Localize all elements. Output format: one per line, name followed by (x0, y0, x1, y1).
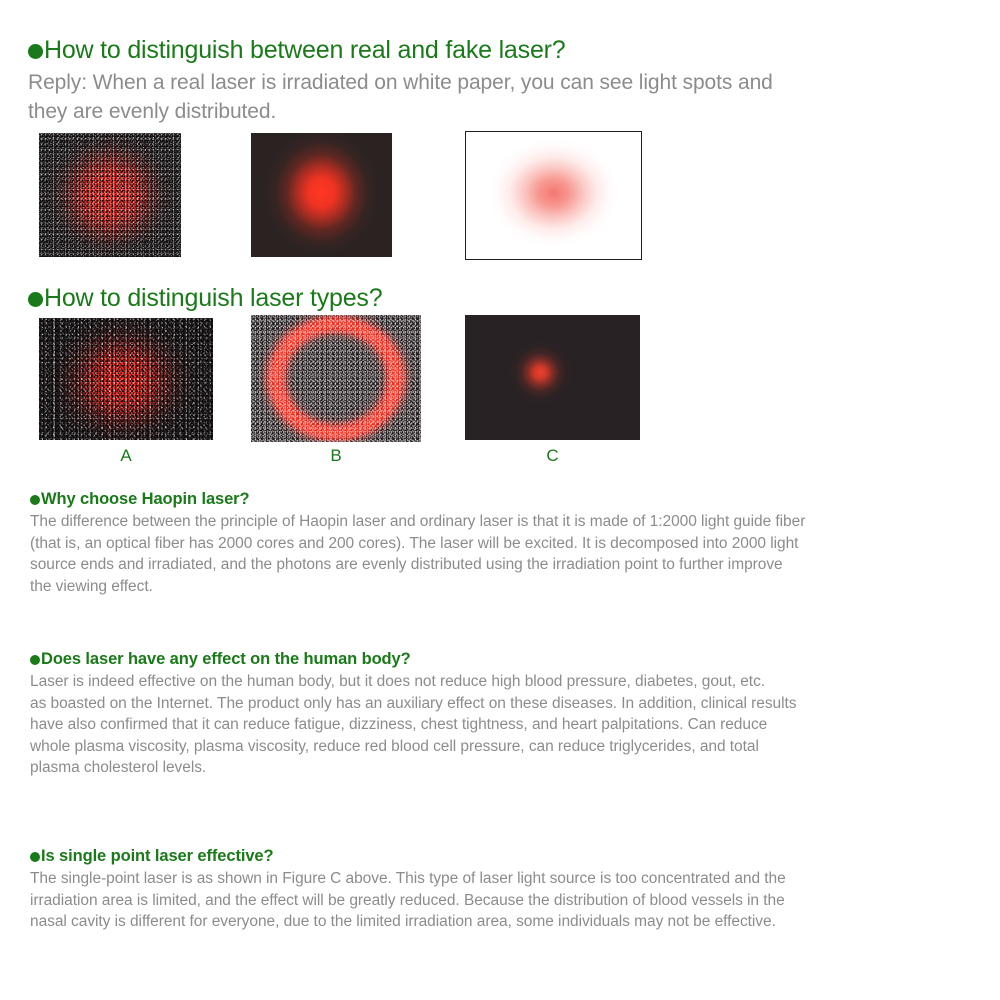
section-heading-laser-types: How to distinguish laser types? (28, 284, 382, 313)
section-heading-why-haopin: Why choose Haopin laser? (30, 490, 249, 509)
fig-real-laser-noisy (39, 133, 181, 257)
fig-type-a (39, 318, 213, 440)
bullet-icon (30, 852, 40, 862)
heading-text: How to distinguish laser types? (44, 284, 382, 313)
fig-type-b (251, 315, 421, 442)
section-heading-real-vs-fake: How to distinguish between real and fake… (28, 36, 565, 65)
body-line: nasal cavity is different for everyone, … (30, 911, 990, 933)
body-line: whole plasma viscosity, plasma viscosity… (30, 736, 990, 758)
section-body-real-vs-fake: Reply: When a real laser is irradiated o… (28, 68, 968, 126)
fig-type-c (465, 315, 640, 440)
body-line: plasma cholesterol levels. (30, 757, 990, 779)
section-heading-single-point: Is single point laser effective? (30, 847, 273, 866)
body-line: The difference between the principle of … (30, 511, 990, 533)
body-line: as boasted on the Internet. The product … (30, 693, 990, 715)
section-body-single-point: The single-point laser is as shown in Fi… (30, 868, 990, 933)
section-body-why-haopin: The difference between the principle of … (30, 511, 990, 597)
faq-page: How to distinguish between real and fake… (0, 0, 1000, 1000)
single-point-dot (465, 315, 640, 440)
body-line: they are evenly distributed. (28, 97, 968, 126)
body-line: irradiation area is limited, and the eff… (30, 890, 990, 912)
noise-overlay (39, 133, 181, 257)
red-glow (251, 133, 392, 257)
fig-label-a: A (39, 446, 213, 466)
bullet-icon (28, 292, 43, 307)
heading-text: Why choose Haopin laser? (41, 490, 249, 509)
heading-text: How to distinguish between real and fake… (44, 36, 565, 65)
bullet-icon (30, 655, 40, 665)
heading-text: Is single point laser effective? (41, 847, 273, 866)
pink-glow (466, 132, 641, 259)
noise-overlay (39, 318, 213, 440)
red-ring-glow (251, 315, 421, 442)
body-line: the viewing effect. (30, 576, 990, 598)
bullet-icon (28, 44, 43, 59)
fig-smooth-red-glow (251, 133, 392, 257)
body-line: source ends and irradiated, and the phot… (30, 554, 990, 576)
body-line: Reply: When a real laser is irradiated o… (28, 68, 968, 97)
section-body-effect-on-body: Laser is indeed effective on the human b… (30, 671, 990, 779)
heading-text: Does laser have any effect on the human … (41, 650, 411, 669)
fig-pale-glow-white (465, 131, 642, 260)
fig-label-c: C (465, 446, 640, 466)
body-line: have also confirmed that it can reduce f… (30, 714, 990, 736)
fig-label-b: B (251, 446, 421, 466)
body-line: (that is, an optical fiber has 2000 core… (30, 533, 990, 555)
bullet-icon (30, 495, 40, 505)
body-line: Laser is indeed effective on the human b… (30, 671, 990, 693)
section-heading-effect-on-body: Does laser have any effect on the human … (30, 650, 411, 669)
body-line: The single-point laser is as shown in Fi… (30, 868, 990, 890)
